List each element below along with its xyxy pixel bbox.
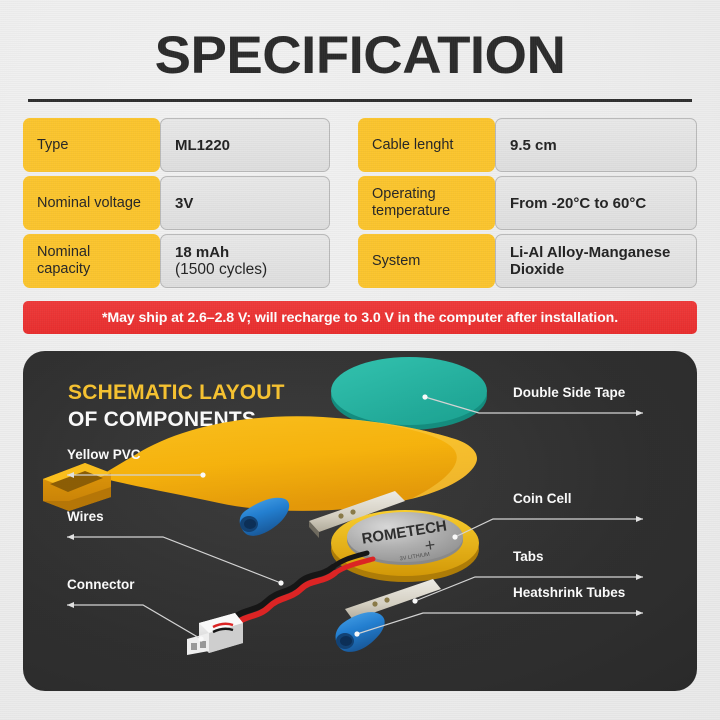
spec-label-system: System xyxy=(358,234,495,288)
spec-value-nominal-capacity: 18 mAh (1500 cycles) xyxy=(160,234,330,288)
spec-label-nominal-capacity: Nominal capacity xyxy=(23,234,160,288)
connector-art xyxy=(187,613,243,655)
shipping-voltage-note: *May ship at 2.6–2.8 V; will recharge to… xyxy=(23,301,697,334)
double-side-tape-art xyxy=(331,357,487,430)
spec-value-operating-temperature: From -20°C to 60°C xyxy=(495,176,697,230)
coin-cell-art: ROMETECH + 3V LITHIUM xyxy=(331,510,479,582)
column-gap xyxy=(330,234,358,288)
spec-label-operating-temperature: Operating temperature xyxy=(358,176,495,230)
capacity-cycles: (1500 cycles) xyxy=(175,261,267,278)
capacity-main: 18 mAh xyxy=(175,244,267,261)
callout-coin-cell: Coin Cell xyxy=(513,491,572,506)
callout-double-side-tape: Double Side Tape xyxy=(513,385,625,400)
callout-wires: Wires xyxy=(67,509,104,524)
specification-table: Type ML1220 Cable lenght 9.5 cm Nominal … xyxy=(23,118,697,288)
title-divider xyxy=(28,99,692,102)
callout-tabs: Tabs xyxy=(513,549,544,564)
page-title: SPECIFICATION xyxy=(0,26,720,86)
spec-value-nominal-voltage: 3V xyxy=(160,176,330,230)
spec-value-cable-length: 9.5 cm xyxy=(495,118,697,172)
spec-value-type: ML1220 xyxy=(160,118,330,172)
tab-strip-lower-art xyxy=(345,579,441,620)
heatshrink-tube-lower-art xyxy=(336,612,385,652)
column-gap xyxy=(330,118,358,172)
spec-label-type: Type xyxy=(23,118,160,172)
spec-label-cable-length: Cable lenght xyxy=(358,118,495,172)
exploded-component-artwork: ROMETECH + 3V LITHIUM xyxy=(23,351,697,691)
column-gap xyxy=(330,176,358,230)
yellow-pvc-art xyxy=(43,416,477,511)
page-root: SPECIFICATION Type ML1220 Cable lenght 9… xyxy=(0,0,720,720)
callout-connector: Connector xyxy=(67,577,135,592)
spec-value-system: Li-Al Alloy-Manganese Dioxide xyxy=(495,234,697,288)
callout-yellow-pvc: Yellow PVC xyxy=(67,447,141,462)
callout-heatshrink-tubes: Heatshrink Tubes xyxy=(513,585,625,600)
schematic-panel: SCHEMATIC LAYOUT OF COMPONENTS xyxy=(23,351,697,691)
spec-label-nominal-voltage: Nominal voltage xyxy=(23,176,160,230)
